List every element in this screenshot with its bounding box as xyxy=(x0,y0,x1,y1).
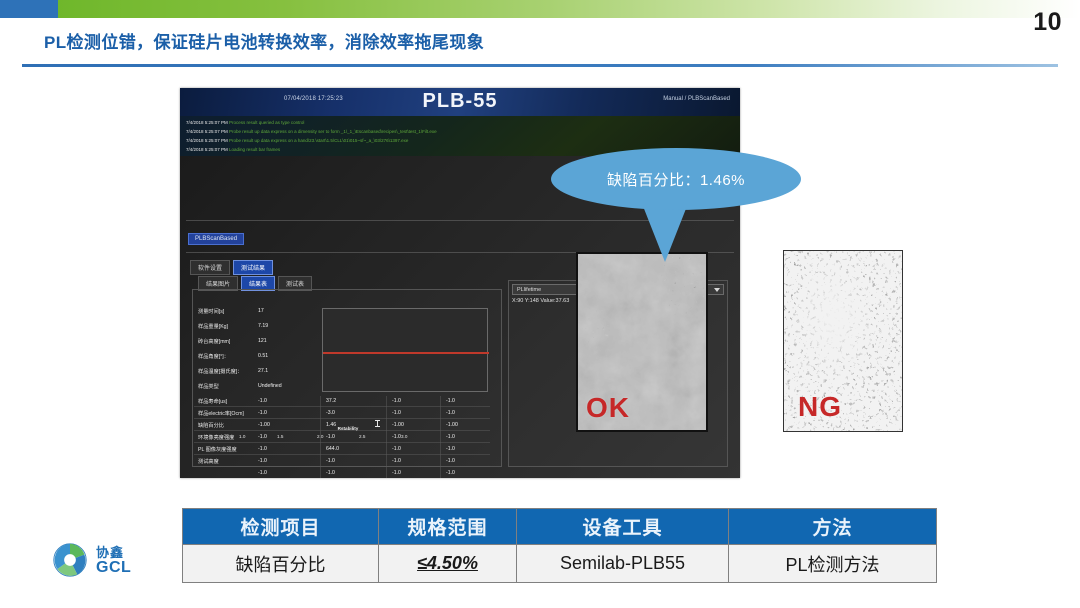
param-value: 121 xyxy=(258,338,267,344)
param-value: -1.0 xyxy=(392,446,401,452)
plb-mode-label: Manual / PLBScanBased xyxy=(663,96,730,102)
param-value: -1.0 xyxy=(392,410,401,416)
primary-tab-bar: 软件设置 测试结果 xyxy=(190,260,273,275)
param-value: 0.51 xyxy=(258,353,268,359)
param-value: 1.46 xyxy=(326,422,336,428)
title-divider xyxy=(22,64,1058,67)
param-value: -1.0 xyxy=(258,446,267,452)
rstability-graph xyxy=(322,308,488,392)
plb-model-title: PLB-55 xyxy=(180,90,740,113)
ng-verdict-label: NG xyxy=(798,391,842,423)
spec-cell-range: ≤4.50% xyxy=(379,545,517,583)
gcl-logo: 协鑫 GCL xyxy=(52,540,156,584)
param-value: 644.0 xyxy=(326,446,339,452)
tab-software-settings[interactable]: 软件设置 xyxy=(190,260,230,275)
log-message: Probe result up data express on a hand\2… xyxy=(229,138,408,143)
axis-tick: 1.0 xyxy=(239,434,245,439)
page-title: PL检测位错，保证硅片电池转换效率，消除效率拖尾现象 xyxy=(44,28,484,53)
ng-scan-image: NG xyxy=(783,250,903,432)
param-value: -1.0 xyxy=(326,470,335,476)
param-label: PL 图像灰度强度 xyxy=(198,446,237,453)
param-value: -1.0 xyxy=(446,446,455,452)
ok-scan-image: OK xyxy=(576,252,708,432)
spec-table-header-row: 检测项目 规格范围 设备工具 方法 xyxy=(183,509,937,545)
param-value: -1.0 xyxy=(326,434,335,440)
log-row: 7/4/2018 5:25:07 PM Probe result up data… xyxy=(186,138,408,143)
param-value: 27.1 xyxy=(258,368,268,374)
param-value: -1.0 xyxy=(258,458,267,464)
table-col-rule xyxy=(386,396,387,478)
table-rule xyxy=(194,466,490,467)
param-value: Undefined xyxy=(258,383,282,389)
log-message: Loading result bar frames xyxy=(229,147,280,152)
log-message: Process result queried as type control xyxy=(229,120,304,125)
param-value: -1.0 xyxy=(258,410,267,416)
spec-header-item: 检测项目 xyxy=(183,509,379,545)
param-value: -1.0 xyxy=(392,434,401,440)
top-decorative-bar xyxy=(0,0,1080,18)
spec-table-row: 缺陷百分比 ≤4.50% Semilab-PLB55 PL检测方法 xyxy=(183,545,937,583)
param-value: -1.0 xyxy=(446,470,455,476)
defect-percentage-callout: 缺陷百分比：1.46% xyxy=(551,148,801,210)
spec-cell-item: 缺陷百分比 xyxy=(183,545,379,583)
param-value: -1.00 xyxy=(392,422,404,428)
axis-tick: 2.5 xyxy=(359,434,365,439)
callout-text: 缺陷百分比：1.46% xyxy=(607,169,745,190)
tab-test-results[interactable]: 测试结果 xyxy=(233,260,273,275)
ok-verdict-label: OK xyxy=(586,392,630,424)
param-label: 样品角度[°]： xyxy=(198,353,229,360)
log-row: 7/4/2018 5:25:07 PM Process result queri… xyxy=(186,120,304,125)
param-label: 缺陷百分比 xyxy=(198,422,224,429)
param-value: -1.00 xyxy=(446,422,458,428)
param-label: 测试高度 xyxy=(198,458,219,465)
table-col-rule xyxy=(440,396,441,478)
param-value: -1.0 xyxy=(392,398,401,404)
spec-cell-tool: Semilab-PLB55 xyxy=(517,545,729,583)
slide-canvas: 10 PL检测位错，保证硅片电池转换效率，消除效率拖尾现象 07/04/2018… xyxy=(0,0,1080,608)
param-label: 样品重量[Kg] xyxy=(198,323,228,330)
table-rule xyxy=(194,418,490,419)
param-value: -1.0 xyxy=(446,434,455,440)
axis-tick: 1.5 xyxy=(277,434,283,439)
table-col-rule xyxy=(320,396,321,478)
log-row: 7/4/2018 5:25:07 PM Probe result up data… xyxy=(186,129,437,134)
page-number: 10 xyxy=(1033,8,1062,37)
pl-mode-dropdown-value: PLlifetime xyxy=(517,287,541,293)
table-rule xyxy=(194,442,490,443)
param-label: 样品温度[摄氏度]： xyxy=(198,368,242,375)
log-time: 7/4/2018 5:25:07 PM xyxy=(186,147,228,152)
text-cursor-icon xyxy=(377,420,378,427)
param-value: 37.2 xyxy=(326,398,336,404)
param-value: -1.00 xyxy=(258,422,270,428)
spec-header-method: 方法 xyxy=(729,509,937,545)
param-label: 砖台高度[mm] xyxy=(198,338,230,345)
param-value: -1.0 xyxy=(258,470,267,476)
param-value: -1.0 xyxy=(326,458,335,464)
graph-threshold-line xyxy=(323,352,489,354)
param-value: -1.0 xyxy=(446,410,455,416)
param-value: -1.0 xyxy=(258,434,267,440)
param-value: -1.0 xyxy=(446,398,455,404)
param-value: 7.19 xyxy=(258,323,268,329)
param-label: 样品寿命[us] xyxy=(198,398,227,405)
param-label: 样品类型 xyxy=(198,383,219,390)
topbar-blue-block xyxy=(0,0,58,18)
param-label: 环境像亮度强度 xyxy=(198,434,234,441)
spec-header-range: 规格范围 xyxy=(379,509,517,545)
param-value: -3.0 xyxy=(326,410,335,416)
topbar-green-gradient xyxy=(58,0,1080,18)
log-row: 7/4/2018 5:25:07 PM Loading result bar f… xyxy=(186,147,280,152)
log-message: Probe result up data express on a dimens… xyxy=(229,129,437,134)
param-label: 测量时间[s] xyxy=(198,308,224,315)
spec-cell-method: PL检测方法 xyxy=(729,545,937,583)
axis-tick: 3.0 xyxy=(401,434,407,439)
spec-table: 检测项目 规格范围 设备工具 方法 缺陷百分比 ≤4.50% Semilab-P… xyxy=(182,508,937,583)
session-tag[interactable]: PLBScanBased xyxy=(188,233,244,245)
plb-header-bar: 07/04/2018 17:25:23 PLB-55 Manual / PLBS… xyxy=(180,88,740,116)
chevron-down-icon xyxy=(714,288,720,292)
log-time: 7/4/2018 5:25:07 PM xyxy=(186,138,228,143)
param-value: -1.0 xyxy=(392,458,401,464)
table-rule xyxy=(194,406,490,407)
param-value: 17 xyxy=(258,308,264,314)
param-value: -1.0 xyxy=(258,398,267,404)
gcl-logo-en: GCL xyxy=(96,559,131,577)
param-label: 样品electric率[Ocm] xyxy=(198,410,244,417)
pl-coordinate-readout: X:90 Y:148 Value:37.63 xyxy=(512,298,569,304)
param-value: -1.0 xyxy=(446,458,455,464)
table-rule xyxy=(194,430,490,431)
log-time: 7/4/2018 5:25:07 PM xyxy=(186,120,228,125)
gcl-logo-mark-icon xyxy=(52,542,88,578)
param-value: -1.0 xyxy=(392,470,401,476)
table-rule xyxy=(194,454,490,455)
log-time: 7/4/2018 5:25:07 PM xyxy=(186,129,228,134)
spec-header-tool: 设备工具 xyxy=(517,509,729,545)
